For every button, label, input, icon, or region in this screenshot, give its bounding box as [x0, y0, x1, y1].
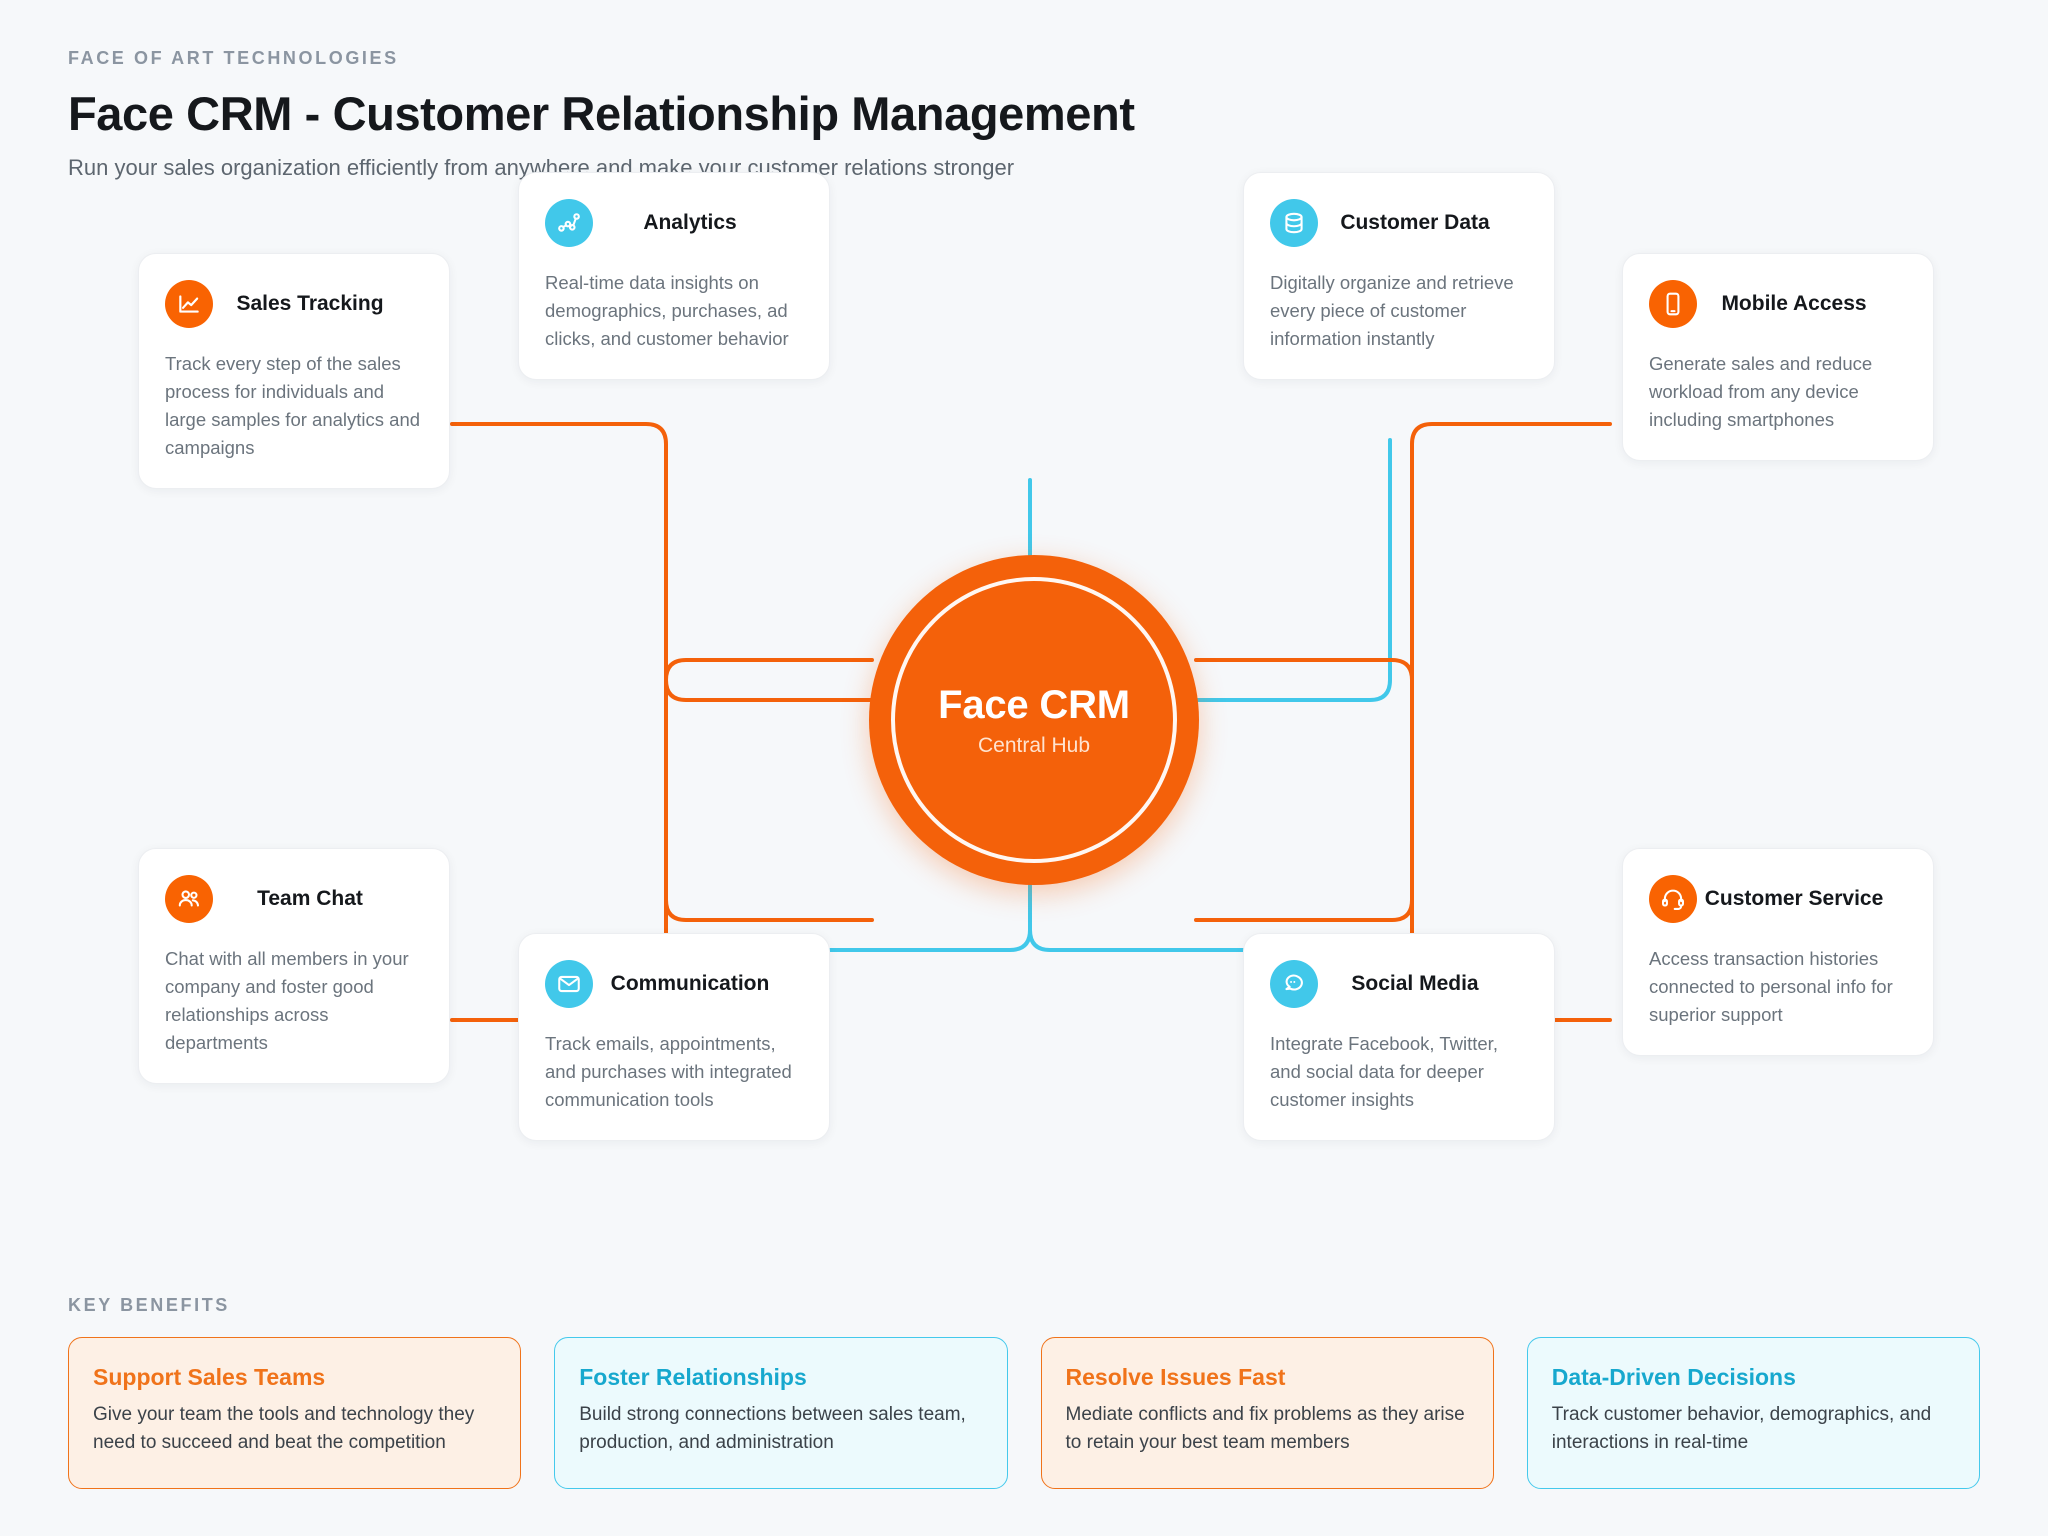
- feature-card-customer-data[interactable]: Customer Data Digitally organize and ret…: [1243, 172, 1555, 380]
- benefit-title: Resolve Issues Fast: [1066, 1364, 1469, 1391]
- feature-card-sales-tracking[interactable]: Sales Tracking Track every step of the s…: [138, 253, 450, 489]
- card-header: Customer Service: [1649, 875, 1905, 923]
- benefit-description: Track customer behavior, demographics, a…: [1552, 1401, 1955, 1457]
- card-description: Track emails, appointments, and purchase…: [545, 1030, 801, 1114]
- card-description: Generate sales and reduce workload from …: [1649, 350, 1905, 434]
- card-title: Analytics: [593, 211, 801, 235]
- smartphone-icon: [1649, 280, 1697, 328]
- card-header: Analytics: [545, 199, 801, 247]
- card-title: Customer Data: [1318, 211, 1526, 235]
- card-header: Mobile Access: [1649, 280, 1905, 328]
- card-description: Real-time data insights on demographics,…: [545, 269, 801, 353]
- card-header: Social Media: [1270, 960, 1526, 1008]
- feature-card-social-media[interactable]: Social Media Integrate Facebook, Twitter…: [1243, 933, 1555, 1141]
- card-description: Chat with all members in your company an…: [165, 945, 421, 1057]
- feature-card-mobile-access[interactable]: Mobile Access Generate sales and reduce …: [1622, 253, 1934, 461]
- wire-mobile-access: [1196, 424, 1610, 920]
- card-description: Integrate Facebook, Twitter, and social …: [1270, 1030, 1526, 1114]
- benefit-title: Support Sales Teams: [93, 1364, 496, 1391]
- feature-card-team-chat[interactable]: Team Chat Chat with all members in your …: [138, 848, 450, 1084]
- card-title: Customer Service: [1697, 887, 1905, 911]
- card-title: Communication: [593, 972, 801, 996]
- users-icon: [165, 875, 213, 923]
- benefit-card-data-driven-decisions[interactable]: Data-Driven Decisions Track customer beh…: [1527, 1337, 1980, 1489]
- feature-card-analytics[interactable]: Analytics Real-time data insights on dem…: [518, 172, 830, 380]
- card-title: Social Media: [1318, 972, 1526, 996]
- benefit-title: Data-Driven Decisions: [1552, 1364, 1955, 1391]
- page-title: Face CRM - Customer Relationship Managem…: [68, 86, 1135, 141]
- key-benefits-row: Support Sales Teams Give your team the t…: [68, 1337, 1980, 1489]
- wire-sales-tracking: [452, 424, 872, 920]
- card-description: Access transaction histories connected t…: [1649, 945, 1905, 1029]
- benefit-description: Mediate conflicts and fix problems as th…: [1066, 1401, 1469, 1457]
- benefit-card-support-sales-teams[interactable]: Support Sales Teams Give your team the t…: [68, 1337, 521, 1489]
- card-title: Mobile Access: [1697, 292, 1905, 316]
- crm-infographic-page: FACE OF ART TECHNOLOGIES Face CRM - Cust…: [0, 0, 2048, 1536]
- card-header: Customer Data: [1270, 199, 1526, 247]
- hub-and-spoke-diagram: Sales Tracking Track every step of the s…: [0, 200, 2048, 1250]
- feature-card-communication[interactable]: Communication Track emails, appointments…: [518, 933, 830, 1141]
- envelope-icon: [545, 960, 593, 1008]
- card-title: Sales Tracking: [213, 292, 421, 316]
- card-header: Team Chat: [165, 875, 421, 923]
- benefit-description: Build strong connections between sales t…: [579, 1401, 982, 1457]
- feature-card-customer-service[interactable]: Customer Service Access transaction hist…: [1622, 848, 1934, 1056]
- benefit-card-resolve-issues-fast[interactable]: Resolve Issues Fast Mediate conflicts an…: [1041, 1337, 1494, 1489]
- hub-subtitle: Central Hub: [978, 734, 1090, 758]
- key-benefits-label: KEY BENEFITS: [68, 1295, 230, 1316]
- database-icon: [1270, 199, 1318, 247]
- brand-eyebrow: FACE OF ART TECHNOLOGIES: [68, 48, 399, 69]
- benefit-title: Foster Relationships: [579, 1364, 982, 1391]
- card-header: Sales Tracking: [165, 280, 421, 328]
- card-title: Team Chat: [213, 887, 421, 911]
- network-graph-icon: [545, 199, 593, 247]
- central-hub[interactable]: Face CRM Central Hub: [869, 555, 1199, 885]
- benefit-description: Give your team the tools and technology …: [93, 1401, 496, 1457]
- line-chart-icon: [165, 280, 213, 328]
- benefit-card-foster-relationships[interactable]: Foster Relationships Build strong connec…: [554, 1337, 1007, 1489]
- card-description: Digitally organize and retrieve every pi…: [1270, 269, 1526, 353]
- card-description: Track every step of the sales process fo…: [165, 350, 421, 462]
- headset-icon: [1649, 875, 1697, 923]
- chat-bubbles-icon: [1270, 960, 1318, 1008]
- card-header: Communication: [545, 960, 801, 1008]
- hub-title: Face CRM: [938, 683, 1130, 728]
